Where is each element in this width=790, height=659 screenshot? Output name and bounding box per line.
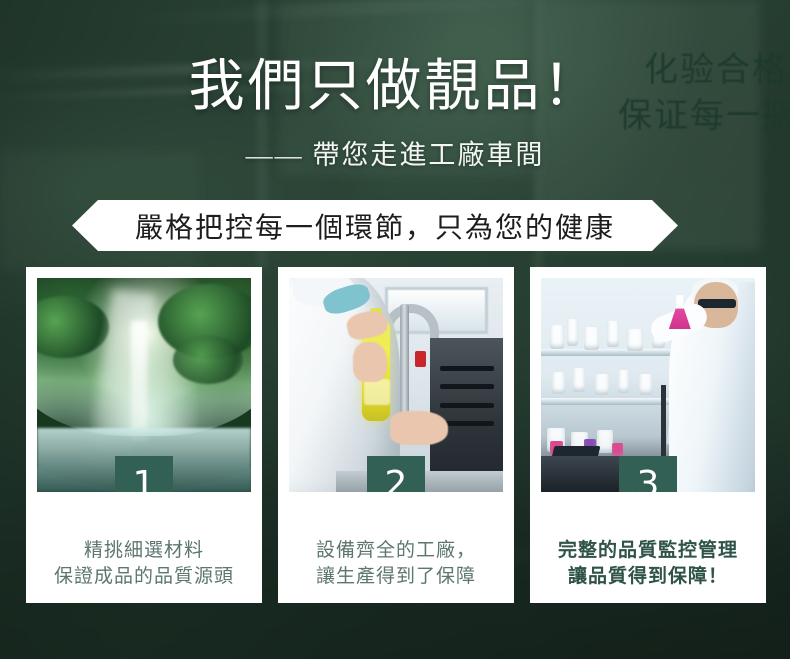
caption-line-2: 讓品質得到保障！ — [541, 564, 755, 590]
factory-bottling-photo: 2 — [289, 278, 503, 492]
page-title: 我們只做靚品！ — [0, 58, 790, 117]
laboratory-testing-photo: 3 — [541, 278, 755, 492]
gorge-waterfall-photo: 1 — [37, 278, 251, 492]
caption-line-1: 精挑細選材料 — [37, 538, 251, 564]
card-number-badge-1: 1 — [115, 456, 173, 492]
feature-card-caption-2: 設備齊全的工廠， 讓生產得到了保障 — [289, 538, 503, 590]
caption-line-1: 設備齊全的工廠， — [289, 538, 503, 564]
headline-ribbon-text: 嚴格把控每一個環節，只為您的健康 — [135, 206, 615, 246]
promo-banner-page: 化验合格后 保证每一瓶都 我們只做靚品！ —— 帶您走進工廠車間 嚴格把控每一個… — [0, 0, 790, 659]
feature-card-3[interactable]: 3 完整的品質監控管理 讓品質得到保障！ — [530, 267, 766, 603]
feature-card-caption-1: 精挑細選材料 保證成品的品質源頭 — [37, 538, 251, 590]
card-number-badge-2: 2 — [367, 456, 425, 492]
feature-card-1[interactable]: 1 精挑細選材料 保證成品的品質源頭 — [26, 267, 262, 603]
feature-card-list: 1 精挑細選材料 保證成品的品質源頭 — [26, 267, 767, 603]
caption-line-2: 讓生產得到了保障 — [289, 564, 503, 590]
feature-card-caption-3: 完整的品質監控管理 讓品質得到保障！ — [541, 538, 755, 590]
card-number-badge-3: 3 — [619, 456, 677, 492]
hero-section: 我們只做靚品！ —— 帶您走進工廠車間 — [0, 0, 790, 172]
feature-card-2[interactable]: 2 設備齊全的工廠， 讓生產得到了保障 — [278, 267, 514, 603]
caption-line-2: 保證成品的品質源頭 — [37, 564, 251, 590]
caption-line-1: 完整的品質監控管理 — [541, 538, 755, 564]
headline-ribbon: 嚴格把控每一個環節，只為您的健康 — [72, 200, 678, 251]
page-subtitle: —— 帶您走進工廠車間 — [0, 133, 790, 172]
